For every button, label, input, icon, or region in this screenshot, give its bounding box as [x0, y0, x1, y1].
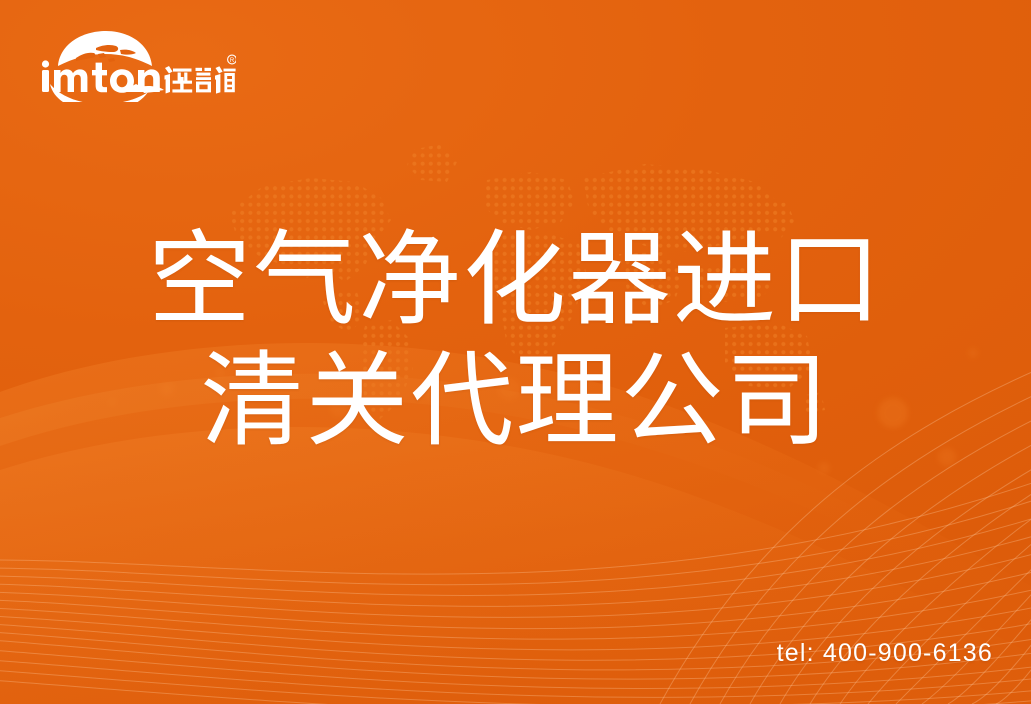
company-logo[interactable]: R — [36, 28, 236, 102]
headline-line-1: 空气净化器进口 — [0, 222, 1031, 337]
logo-chinese-text — [165, 66, 236, 94]
telephone-text: tel: 400-900-6136 — [777, 639, 993, 668]
registered-mark-icon: R — [228, 55, 236, 64]
promo-banner: R 空气净化器进口 清关代理公司 tel: 400-900-6136 — [0, 0, 1031, 704]
dragon-swoosh-icon — [50, 84, 164, 102]
headline-line-2: 清关代理公司 — [0, 343, 1031, 458]
globe-arc-icon — [58, 31, 152, 66]
page-title: 空气净化器进口 清关代理公司 — [0, 222, 1031, 459]
svg-text:R: R — [230, 58, 235, 64]
